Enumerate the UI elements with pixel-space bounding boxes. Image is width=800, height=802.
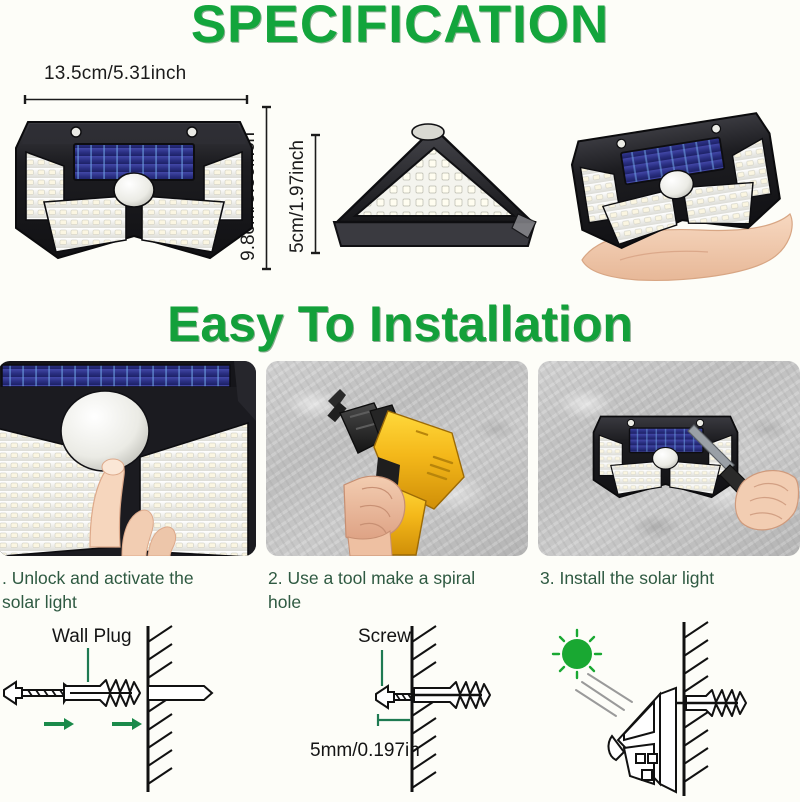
wall-plug-icon [414,682,490,708]
dimension-width-line [22,95,250,104]
page-title-specification: SPECIFICATION [0,0,800,55]
step-photo-install-light [538,361,800,556]
screw-icon [376,686,412,708]
dimension-height-line [262,104,271,272]
section-title-easy-installation: Easy To Installation [0,295,800,353]
direction-arrows [44,718,142,730]
mounted-lamp-outline [609,688,676,792]
step-caption-3: 3. Install the solar light [540,566,790,590]
wall-plug-icon [670,690,746,716]
mounting-illustration [538,361,800,556]
product-photo-front-view [14,108,254,273]
step-caption-2: 2. Use a tool make a spiral hole [268,566,516,614]
dimension-depth-line [311,132,320,256]
diagram-mounted-light-sun [520,612,800,802]
dimension-depth-label: 5cm/1.97inch [287,140,309,253]
diagram-wall-plug [0,612,270,802]
wall-hatched [412,626,436,792]
product-photo-in-hand [560,110,800,285]
product-photo-side-view [322,118,547,258]
wall-hatched [148,626,212,792]
sun-rays [576,674,632,716]
step-photo-drill-hole [266,361,528,556]
specification-page: SPECIFICATION 13.5cm/5.31inch 9.8cm/3.86… [0,0,800,800]
motion-sensor-dome [61,391,149,471]
drill-illustration [266,361,528,556]
dimension-width-label: 13.5cm/5.31inch [44,63,186,85]
wall-plug-icon [64,680,140,706]
sun-icon [553,630,601,678]
step-photo-unlock-activate [0,361,256,556]
screw-length-bracket [378,714,410,726]
step-caption-1: . Unlock and activate the solar light [2,566,242,614]
